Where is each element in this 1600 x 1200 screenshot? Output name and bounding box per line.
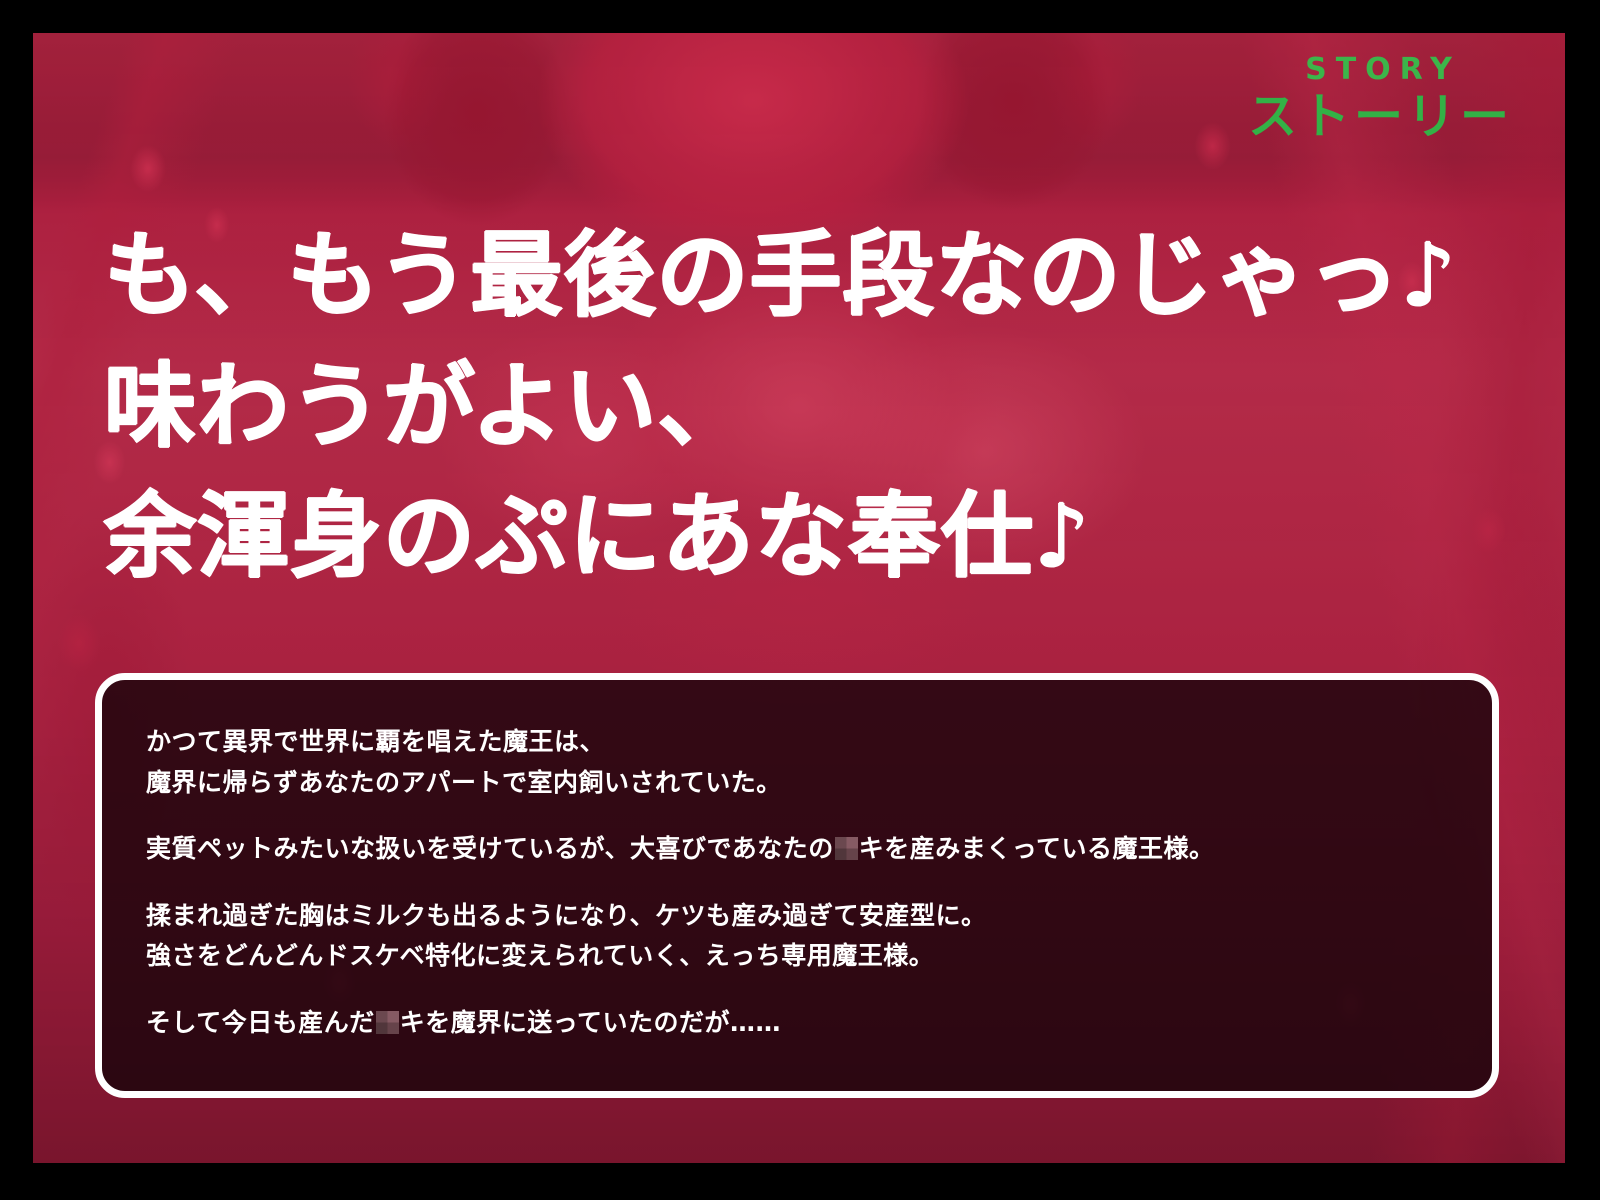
story-heading-japanese: ストーリー — [1244, 92, 1513, 141]
story-text-line: かつて異界で世界に覇を唱えた魔王は、 — [146, 722, 1448, 763]
story-text-line: 強さをどんどんドスケベ特化に変えられていく、えっち専用魔王様。 — [146, 936, 1448, 977]
story-text-line: 魔界に帰らずあなたのアパートで室内飼いされていた。 — [146, 763, 1448, 804]
story-text-line: 実質ペットみたいな扱いを受けているが、大喜びであなたのキを産みまくっている魔王様… — [146, 829, 1448, 870]
story-heading-english: STORY — [1244, 55, 1513, 85]
story-text-line: そして今日も産んだキを魔界に送っていたのだが…… — [146, 1003, 1448, 1044]
story-description-box: かつて異界で世界に覇を唱えた魔王は、魔界に帰らずあなたのアパートで室内飼いされて… — [95, 673, 1499, 1098]
story-paragraph: そして今日も産んだキを魔界に送っていたのだが…… — [146, 1003, 1448, 1044]
story-paragraph: 揉まれ過ぎた胸はミルクも出るようになり、ケツも産み過ぎて安産型に。強さをどんどん… — [146, 896, 1448, 977]
story-paragraph: 実質ペットみたいな扱いを受けているが、大喜びであなたのキを産みまくっている魔王様… — [146, 829, 1448, 870]
dialogue-line-3: 余渾身のぷにあな奉仕♪ — [104, 472, 1554, 603]
dialogue-text-block: も、もう最後の手段なのじゃっ♪ 味わうがよい、 余渾身のぷにあな奉仕♪ — [104, 211, 1554, 603]
censor-block-icon — [835, 837, 858, 860]
dialogue-line-1: も、もう最後の手段なのじゃっ♪ — [104, 211, 1554, 342]
screenshot-root: STORY ストーリー も、もう最後の手段なのじゃっ♪ 味わうがよい、 余渾身の… — [0, 0, 1600, 1200]
story-heading: STORY ストーリー — [1244, 55, 1513, 141]
story-paragraph: かつて異界で世界に覇を唱えた魔王は、魔界に帰らずあなたのアパートで室内飼いされて… — [146, 722, 1448, 803]
censor-block-icon — [376, 1011, 399, 1034]
dialogue-line-2: 味わうがよい、 — [104, 342, 1554, 473]
background-illustration: STORY ストーリー も、もう最後の手段なのじゃっ♪ 味わうがよい、 余渾身の… — [33, 33, 1565, 1163]
story-text-line: 揉まれ過ぎた胸はミルクも出るようになり、ケツも産み過ぎて安産型に。 — [146, 896, 1448, 937]
